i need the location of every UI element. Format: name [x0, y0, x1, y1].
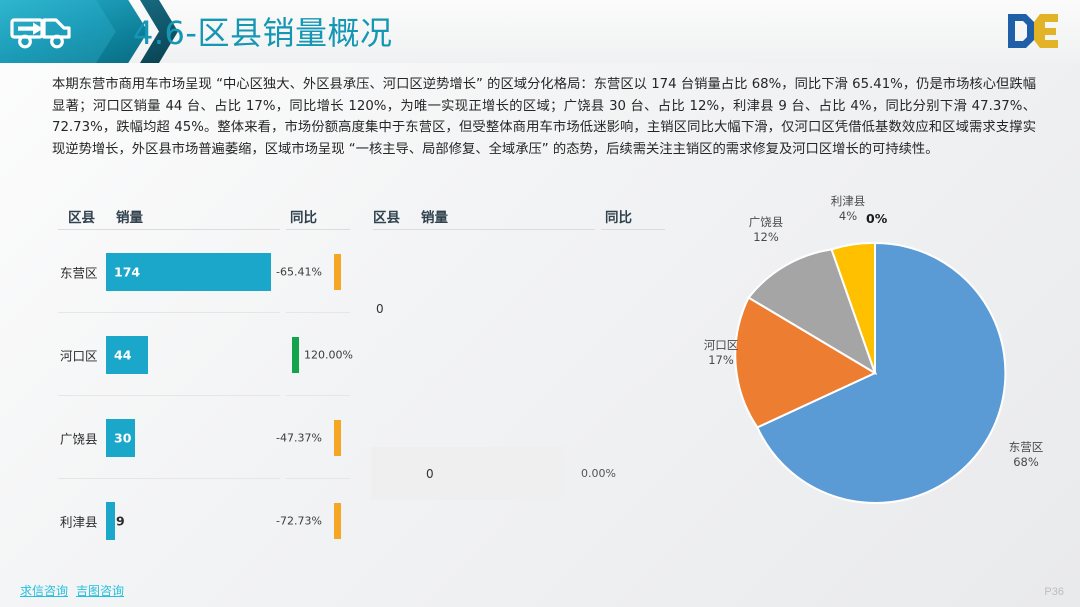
sales-table-left: 区县 销量 同比 东营区 174 -65.41% 河口区 44 120.00% …: [58, 196, 350, 562]
col-header-yoy: 同比: [290, 206, 317, 226]
yoy-bar: [334, 503, 341, 539]
yoy-bar: [292, 337, 299, 373]
yoy-bar: [334, 254, 341, 290]
pie-label-hekou-name: 河口区: [704, 338, 739, 352]
table-row[interactable]: 东营区 174 -65.41%: [58, 230, 350, 313]
sales-value: 44: [114, 347, 131, 362]
empty-sales-bar-placeholder: [371, 447, 564, 500]
col-header-district: 区县: [373, 206, 400, 226]
col-header-sales: 销量: [116, 206, 143, 226]
yoy-value: 120.00%: [304, 348, 353, 361]
sales-value: 30: [114, 430, 131, 445]
table-row[interactable]: 利津县 9 -72.73%: [58, 479, 350, 562]
pie-label-dongying-pct: 68%: [1013, 455, 1039, 469]
pie-label-guangrao: 广饶县 12%: [730, 215, 802, 245]
header-rule-left: [373, 229, 595, 230]
pie-label-hekou-pct: 17%: [708, 353, 734, 367]
pie-label-lijin-name: 利津县: [831, 194, 866, 208]
col-header-district: 区县: [68, 206, 95, 226]
page-title: 4.6-区县销量概况: [133, 8, 392, 54]
row-category-label: 河口区: [60, 345, 98, 364]
footer-link-qiuxin[interactable]: 求信咨询: [20, 584, 68, 598]
sales-bar: 30: [106, 419, 135, 457]
ghost-yoy-value: 0.00%: [581, 467, 616, 480]
zero-axis-mark: 0: [376, 302, 384, 316]
row-category-label: 广饶县: [60, 428, 98, 447]
db-brand-logo-icon: [1004, 10, 1062, 52]
district-share-pie-chart: 广饶县 12% 利津县 4% 0% 河口区 17% 东营区 68%: [700, 190, 1080, 530]
table-row[interactable]: 广饶县 30 -47.37%: [58, 396, 350, 479]
page-header: 4.6-区县销量概况: [0, 0, 1080, 63]
table-row[interactable]: 河口区 44 120.00%: [58, 313, 350, 396]
summary-paragraph: 本期东营市商用车市场呈现 “中心区独大、外区县承压、河口区逆势增长” 的区域分化…: [52, 74, 1036, 160]
ghost-sales-value: 0: [426, 467, 434, 481]
truck-icon: [10, 11, 76, 51]
sales-table-middle: 区县 销量 同比: [373, 196, 665, 230]
yoy-value: -72.73%: [276, 514, 322, 527]
pie-label-dongying-name: 东营区: [1009, 440, 1044, 454]
row-category-label: 东营区: [60, 262, 98, 281]
pie-label-extra-zero-value: 0%: [866, 211, 887, 226]
table-middle-header-row: 区县 销量 同比: [373, 196, 665, 230]
pie-label-dongying: 东营区 68%: [995, 440, 1057, 470]
sales-bar: [106, 502, 115, 540]
pie-label-lijin-pct: 4%: [839, 209, 857, 223]
yoy-value: -65.41%: [276, 265, 322, 278]
pie-label-extra-zero: 0%: [866, 211, 887, 227]
footer-link-jitu[interactable]: 吉图咨询: [76, 584, 124, 598]
table-left-header-row: 区县 销量 同比: [58, 196, 350, 230]
sales-bar: 44: [106, 336, 148, 374]
sales-bar: 174: [106, 253, 271, 291]
footer-links: 求信咨询吉图咨询: [20, 582, 132, 599]
col-header-sales: 销量: [421, 206, 448, 226]
pie-label-guangrao-name: 广饶县: [749, 215, 784, 229]
pie-label-guangrao-pct: 12%: [753, 230, 779, 244]
pie-label-hekou: 河口区 17%: [690, 338, 752, 368]
yoy-value: -47.37%: [276, 431, 322, 444]
page-number: P36: [1044, 586, 1064, 598]
sales-value: 174: [114, 264, 140, 279]
row-category-label: 利津县: [60, 511, 98, 530]
col-header-yoy: 同比: [605, 206, 632, 226]
sales-value: 9: [116, 513, 125, 528]
header-rule-right: [601, 229, 665, 230]
yoy-bar: [334, 420, 341, 456]
